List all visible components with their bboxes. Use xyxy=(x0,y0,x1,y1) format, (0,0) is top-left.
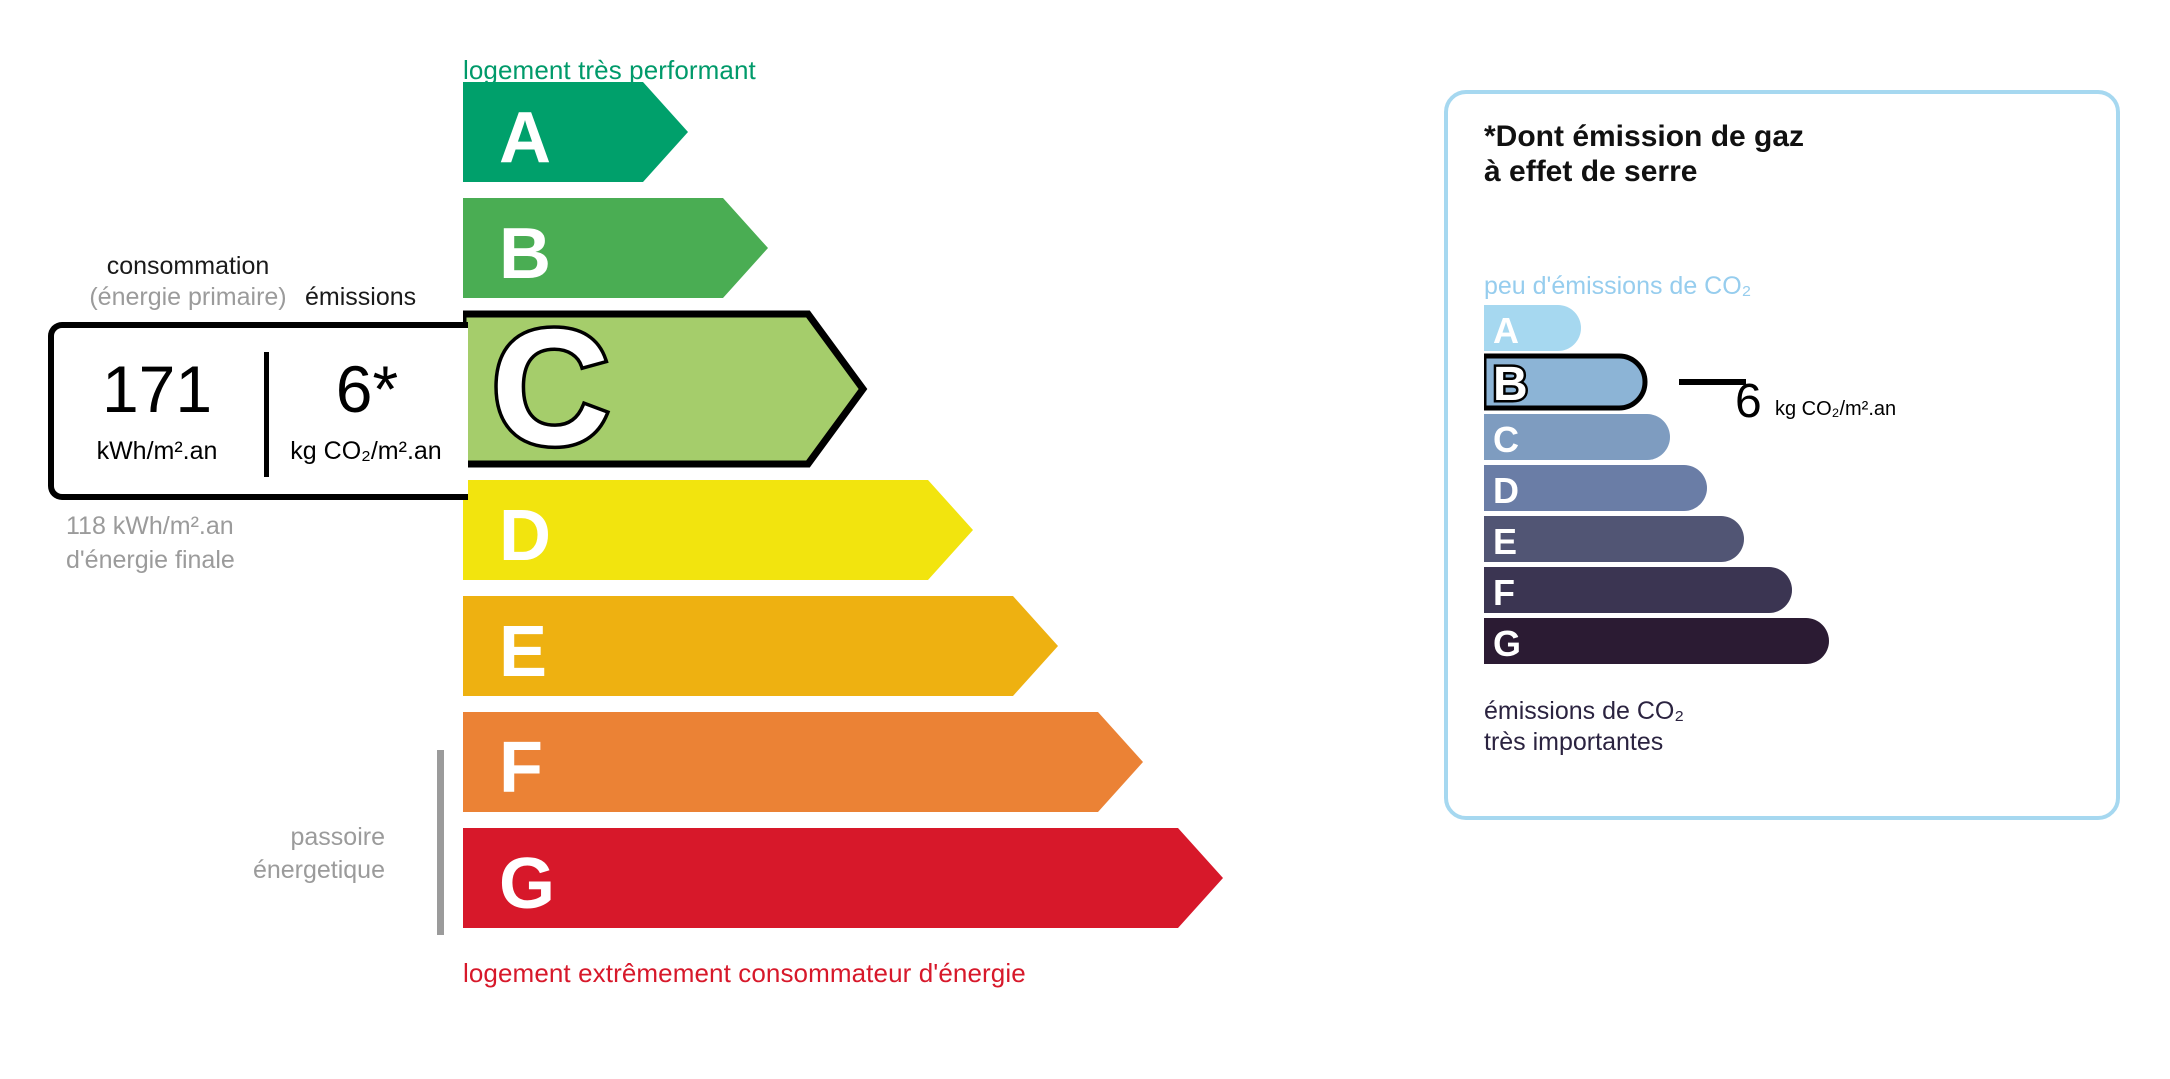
co2-bar-c: C xyxy=(1484,414,1670,460)
co2-bar-chart: A B C D E F G xyxy=(1484,305,1864,690)
consumption-value: 171 xyxy=(54,356,260,422)
energy-bar-b-letter: B xyxy=(499,214,551,294)
passoire-marker-bar xyxy=(437,750,444,935)
energy-bar-b: B xyxy=(463,198,768,298)
co2-bar-g: G xyxy=(1484,618,1829,664)
co2-bar-d: D xyxy=(1484,465,1707,511)
energy-bar-a: A xyxy=(463,82,688,182)
co2-bar-g-letter: G xyxy=(1493,623,1521,664)
co2-top-label: peu d'émissions de CO₂ xyxy=(1484,272,1751,301)
co2-bar-a-letter: A xyxy=(1493,310,1519,351)
energy-bar-g: G xyxy=(463,828,1223,928)
energy-bar-a-letter: A xyxy=(499,98,551,178)
consumption-label: consommation xyxy=(68,252,308,281)
energy-bar-d-letter: D xyxy=(499,496,551,576)
energy-bar-e: E xyxy=(463,596,1058,696)
final-energy-value: 118 kWh/m².an xyxy=(66,512,234,541)
energy-bar-d: D xyxy=(463,480,973,580)
co2-bar-e: E xyxy=(1484,516,1744,562)
energy-bar-f: F xyxy=(463,712,1143,812)
energy-bar-f-letter: F xyxy=(499,728,543,808)
co2-bottom-label-line1: émissions de CO₂ xyxy=(1484,697,1684,726)
consumption-sublabel: (énergie primaire) xyxy=(48,283,328,312)
energy-bottom-label: logement extrêmement consommateur d'éner… xyxy=(463,958,1026,989)
co2-callout-unit: kg CO₂/m².an xyxy=(1775,398,1896,421)
dpe-diagram: logement très performant A B C D E xyxy=(0,0,2170,1079)
energy-bar-chart: A B C D E F G xyxy=(463,82,1223,952)
energy-bar-c-letter: C xyxy=(491,295,610,479)
co2-callout-value: 6 xyxy=(1735,378,1762,426)
co2-bar-b-letter: B xyxy=(1493,358,1528,411)
energy-bar-g-letter: G xyxy=(499,844,555,924)
co2-bar-a: A xyxy=(1484,305,1581,351)
co2-panel-title: *Dont émission de gaz à effet de serre xyxy=(1484,119,1804,190)
co2-bottom-label-line2: très importantes xyxy=(1484,728,1663,757)
emissions-value: 6* xyxy=(272,356,462,422)
co2-bar-f: F xyxy=(1484,567,1792,613)
energy-bar-e-letter: E xyxy=(499,612,547,692)
co2-bar-d-letter: D xyxy=(1493,470,1519,511)
co2-bar-c-letter: C xyxy=(1493,419,1519,460)
passoire-label-line1: passoire xyxy=(180,823,385,852)
co2-bar-b: B xyxy=(1484,356,1645,411)
consumption-unit: kWh/m².an xyxy=(54,437,260,466)
energy-bar-c: C xyxy=(463,295,863,479)
passoire-label-line2: énergetique xyxy=(150,856,385,885)
co2-bar-f-letter: F xyxy=(1493,572,1515,613)
emissions-label: émissions xyxy=(305,283,416,312)
emissions-unit: kg CO₂/m².an xyxy=(266,437,466,466)
co2-bar-e-letter: E xyxy=(1493,521,1517,562)
final-energy-label: d'énergie finale xyxy=(66,546,235,575)
